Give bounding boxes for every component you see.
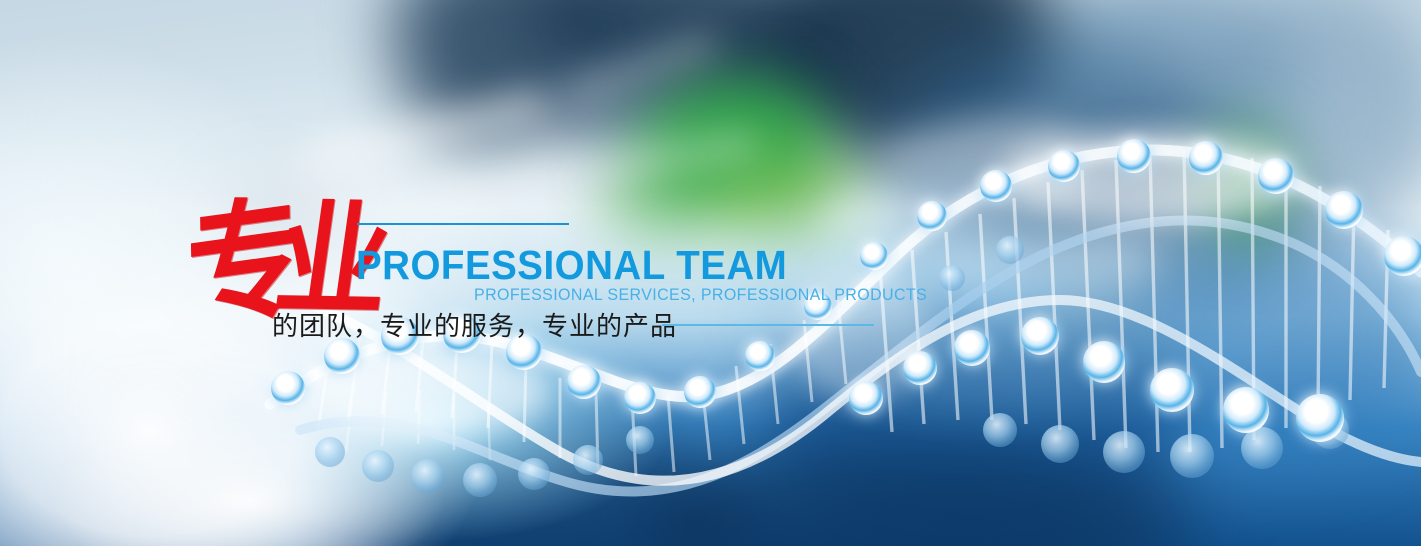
rule-above-headline <box>357 223 569 225</box>
rule-below-tagline <box>662 324 874 326</box>
seal-glyph-zhuan: 专 <box>185 193 276 336</box>
subtitle: PROFESSIONAL SERVICES, PROFESSIONAL PROD… <box>474 286 927 305</box>
banner-text-block: 专业 PROFESSIONAL TEAM PROFESSIONAL SERVIC… <box>0 0 1421 546</box>
seal-glyph-ye: 业 <box>269 198 370 323</box>
professional-team-banner: 专业 PROFESSIONAL TEAM PROFESSIONAL SERVIC… <box>0 0 1421 546</box>
chinese-tagline: 的团队，专业的服务，专业的产品 <box>272 306 677 343</box>
page-title: PROFESSIONAL TEAM <box>356 242 787 289</box>
